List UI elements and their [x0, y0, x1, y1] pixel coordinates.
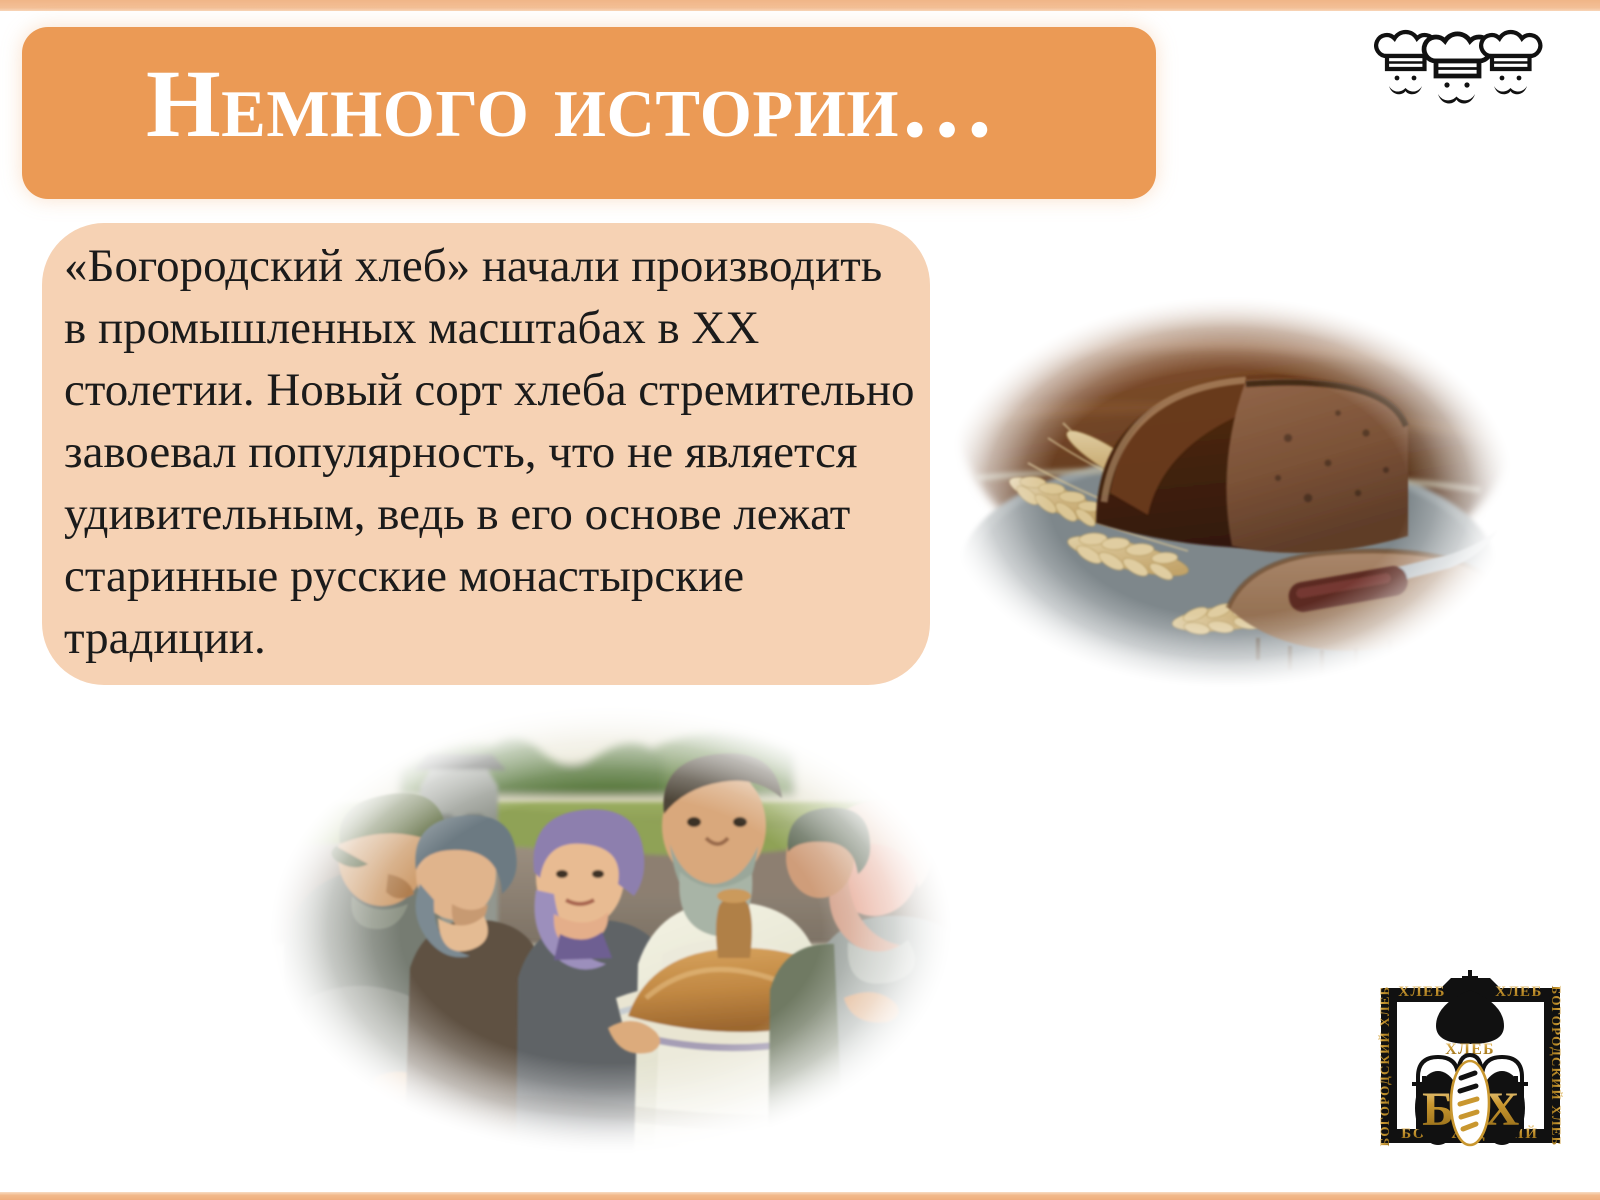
svg-text:БОГОРОДСКИЙ ХЛЕБ: БОГОРОДСКИЙ ХЛЕБ — [1549, 986, 1564, 1147]
svg-text:ХЛЕБ: ХЛЕБ — [1398, 984, 1446, 1000]
svg-text:БОГОРОДСКИЙ ХЛЕБ: БОГОРОДСКИЙ ХЛЕБ — [1377, 986, 1392, 1147]
body-text-card: «Богородский хлеб» начали производить в … — [42, 223, 930, 685]
page-title: Немного истории… — [146, 52, 1126, 156]
svg-text:ХЛЕБ: ХЛЕБ — [1495, 984, 1543, 1000]
body-text: «Богородский хлеб» начали производить в … — [64, 235, 916, 669]
bogorodsky-khleb-logo: ХЛЕБ ХЛЕБ БОГОРОДСКИЙ ХЛЕБ БОГОРОДСКИЙ Х… — [1363, 948, 1578, 1163]
bread-photo — [928, 288, 1528, 698]
bottom-orange-rule — [0, 1192, 1600, 1200]
three-chef-hats-icon — [1374, 22, 1550, 108]
svg-text:Б: Б — [1422, 1083, 1454, 1136]
peasants-painting — [248, 698, 974, 1160]
top-orange-rule — [0, 0, 1600, 11]
slide-canvas: Немного истории… — [0, 0, 1600, 1200]
